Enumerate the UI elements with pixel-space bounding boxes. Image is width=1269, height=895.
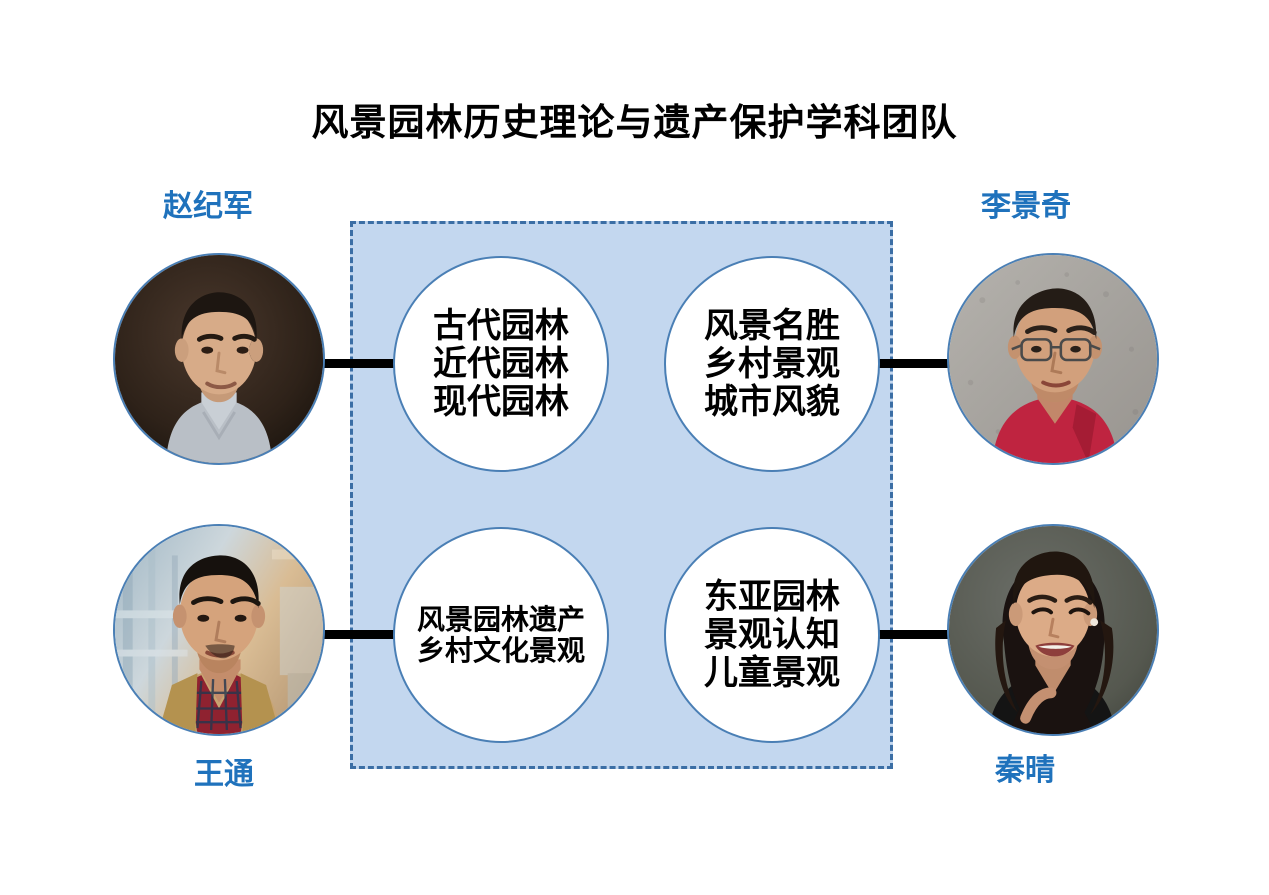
member-name-zhao-jijun: 赵纪军 [163, 181, 253, 225]
topic-line: 儿童景观 [704, 654, 840, 692]
topic-circle-landscape-heritage[interactable]: 风景园林遗产 乡村文化景观 [393, 527, 609, 743]
diagram-canvas: 风景园林历史理论与遗产保护学科团队 古代园林 近代园林 现代园林 风景名胜 乡村… [0, 0, 1269, 895]
member-photo-qin-qing[interactable] [947, 524, 1159, 736]
page-title: 风景园林历史理论与遗产保护学科团队 [0, 92, 1269, 146]
member-name-qin-qing: 秦晴 [995, 745, 1055, 789]
member-name-wang-tong: 王通 [194, 749, 254, 793]
topic-line: 风景园林遗产 [417, 604, 585, 635]
topic-line: 风景名胜 [704, 307, 840, 345]
topic-line: 东亚园林 [704, 578, 840, 616]
topic-line: 古代园林 [433, 307, 569, 345]
topic-circle-ancient-gardens[interactable]: 古代园林 近代园林 现代园林 [393, 256, 609, 472]
topic-line: 城市风貌 [704, 383, 840, 421]
member-photo-wang-tong[interactable] [113, 524, 325, 736]
topic-line: 乡村景观 [704, 345, 840, 383]
topic-line: 乡村文化景观 [417, 635, 585, 666]
topic-circle-scenic-areas[interactable]: 风景名胜 乡村景观 城市风貌 [664, 256, 880, 472]
topic-line: 现代园林 [433, 383, 569, 421]
topic-line: 景观认知 [704, 616, 840, 654]
avatar [947, 253, 1159, 465]
avatar [947, 524, 1159, 736]
topic-circle-east-asian-gardens[interactable]: 东亚园林 景观认知 儿童景观 [664, 527, 880, 743]
member-photo-zhao-jijun[interactable] [113, 253, 325, 465]
topic-line: 近代园林 [433, 345, 569, 383]
avatar [113, 253, 325, 465]
avatar [113, 524, 325, 736]
member-name-li-jingqi: 李景奇 [981, 181, 1071, 225]
member-photo-li-jingqi[interactable] [947, 253, 1159, 465]
